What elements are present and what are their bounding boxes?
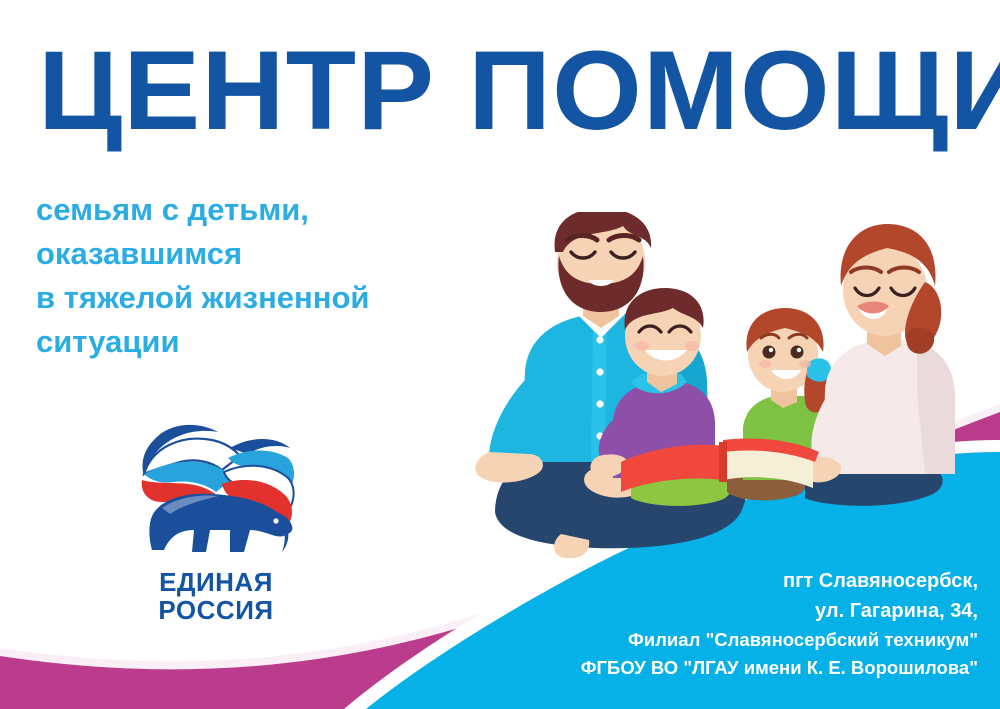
united-russia-emblem	[118, 418, 314, 568]
address-line-2: ул. Гагарина, 34,	[418, 596, 978, 626]
address-line-4: ФГБОУ ВО "ЛГАУ имени К. Е. Ворошилова"	[418, 654, 978, 682]
family-reading-illustration	[455, 212, 1000, 572]
girl-cheek-left	[759, 360, 771, 368]
girl-eye-left	[763, 346, 776, 359]
address-line-1: пгт Славяносербск,	[418, 566, 978, 596]
father-button	[596, 336, 603, 343]
boy-cheek-right	[685, 341, 699, 351]
page-title: ЦЕНТР ПОМОЩИ	[38, 36, 986, 146]
logo-line-2: РОССИЯ	[118, 596, 314, 624]
subtitle-line-2: оказавшимся	[36, 232, 506, 276]
bear-eye	[273, 518, 278, 523]
united-russia-logo: ЕДИНАЯ РОССИЯ	[118, 418, 314, 638]
book-spine	[719, 442, 727, 482]
girl-cheek-right	[799, 360, 811, 368]
subtitle: семьям с детьми, оказавшимся в тяжелой ж…	[36, 188, 506, 364]
boy-cheek-left	[635, 341, 649, 351]
father-figure	[475, 212, 747, 558]
logo-wordmark: ЕДИНАЯ РОССИЯ	[118, 568, 314, 624]
father-button	[596, 368, 603, 375]
logo-line-1: ЕДИНАЯ	[118, 568, 314, 596]
father-button	[596, 400, 603, 407]
subtitle-line-3: в тяжелой жизненной	[36, 276, 506, 320]
address-line-3: Филиал "Славяносербский техникум"	[418, 626, 978, 654]
address-block: пгт Славяносербск, ул. Гагарина, 34, Фил…	[418, 566, 978, 682]
girl-eye-left-highlight	[769, 348, 773, 352]
poster-canvas: ЦЕНТР ПОМОЩИ семьям с детьми, оказавшимс…	[0, 0, 1000, 709]
girl-eye-right	[791, 346, 804, 359]
subtitle-line-4: ситуации	[36, 320, 506, 364]
subtitle-line-1: семьям с детьми,	[36, 188, 506, 232]
girl-eye-right-highlight	[797, 348, 801, 352]
